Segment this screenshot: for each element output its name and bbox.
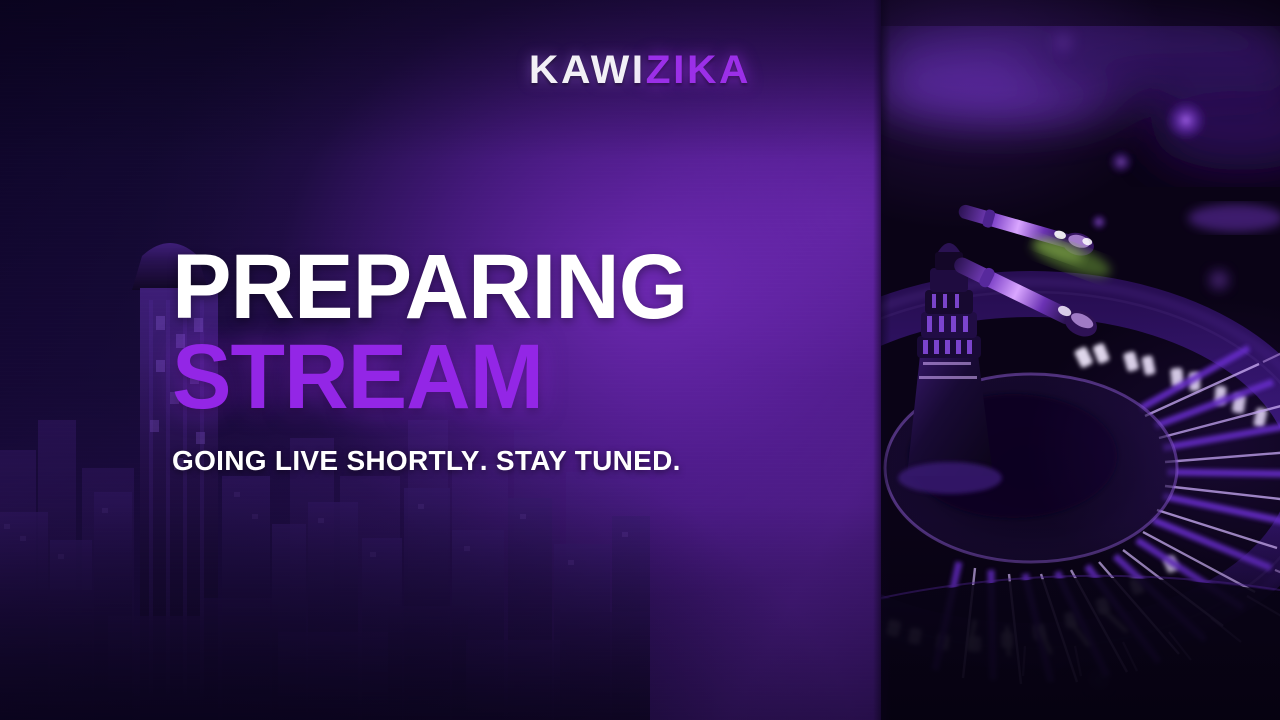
subtitle-emphasis-1: SHORTLY (346, 445, 479, 476)
subtitle-part-3: . (673, 445, 681, 476)
subtitle-emphasis-2: TUNED (575, 445, 673, 476)
headline-line-1: PREPARING (172, 244, 793, 330)
headline-block: PREPARING STREAM GOING LIVE SHORTLY. STA… (172, 244, 812, 477)
subtitle-part-2: . STAY (480, 445, 575, 476)
roulette-photo-panel (881, 0, 1280, 720)
subtitle-text: GOING LIVE SHORTLY. STAY TUNED. (172, 445, 812, 477)
subtitle-part-1: GOING LIVE (172, 445, 346, 476)
stream-standby-screen: KAWIZIKA PREPARING STREAM GOING LIVE SHO… (0, 0, 1280, 720)
brand-logo: KAWIZIKA (0, 50, 1280, 90)
headline-line-2: STREAM (172, 334, 793, 420)
logo-accent-text: ZIKA (646, 48, 751, 92)
logo-primary-text: KAWI (529, 48, 646, 92)
